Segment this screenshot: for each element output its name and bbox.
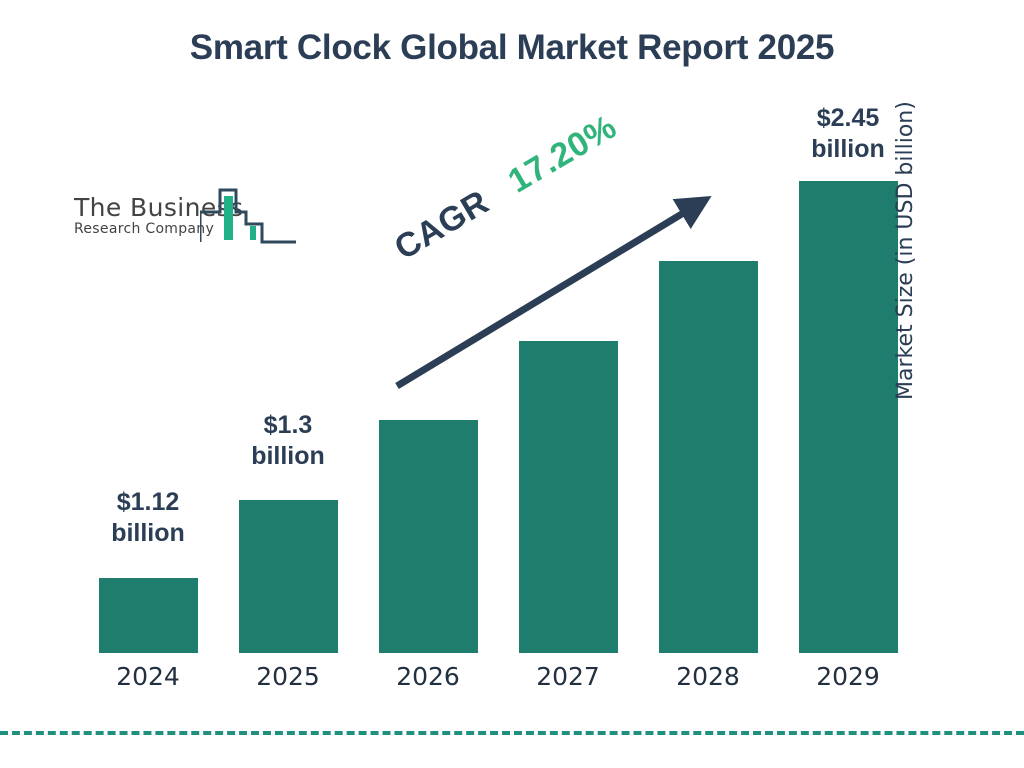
bar-value-2024-line1: $1.12 xyxy=(78,487,218,518)
x-tick-2024: 2024 xyxy=(78,662,218,691)
chart-canvas: Smart Clock Global Market Report 2025 Th… xyxy=(0,0,1024,768)
bar-value-2024: $1.12 billion xyxy=(78,487,218,549)
bar-value-2024-line2: billion xyxy=(78,518,218,549)
bar-2025 xyxy=(239,500,338,653)
bar-2024 xyxy=(99,578,198,653)
bar-2028 xyxy=(659,261,758,653)
x-tick-2027: 2027 xyxy=(498,662,638,691)
x-tick-2028: 2028 xyxy=(638,662,778,691)
bar-value-2025-line2: billion xyxy=(218,441,358,472)
y-axis-title: Market Size (in USD billion) xyxy=(893,20,918,400)
bar-value-2025: $1.3 billion xyxy=(218,410,358,472)
footer-divider xyxy=(0,731,1024,735)
x-tick-2026: 2026 xyxy=(358,662,498,691)
x-tick-2029: 2029 xyxy=(778,662,918,691)
bar-2027 xyxy=(519,341,618,653)
bar-2029 xyxy=(799,181,898,653)
bar-chart-plot: $1.12 billion $1.3 billion $2.45 billion… xyxy=(0,0,1024,768)
bar-2026 xyxy=(379,420,478,653)
x-tick-2025: 2025 xyxy=(218,662,358,691)
bar-value-2025-line1: $1.3 xyxy=(218,410,358,441)
